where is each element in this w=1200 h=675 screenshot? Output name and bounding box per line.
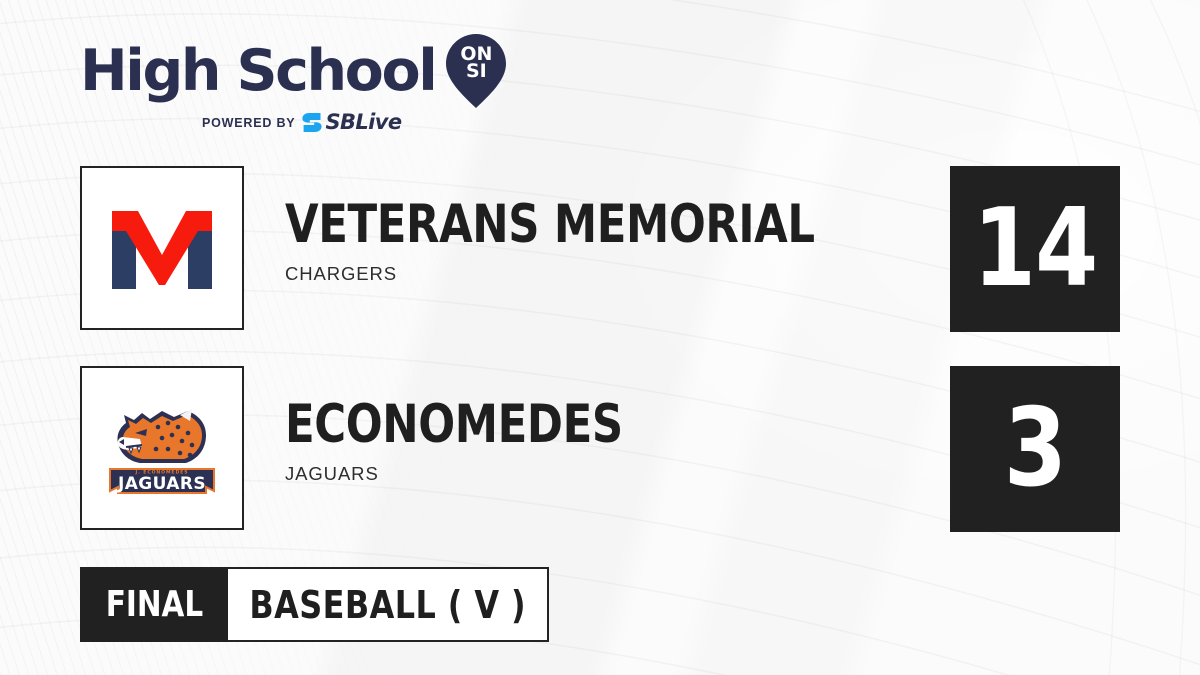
sblive-bolt-icon xyxy=(302,113,322,132)
status-sport-label: BASEBALL ( V ) xyxy=(249,583,526,627)
team-row-away: J. ECONOMEDES JAGUARS ECONOMEDES JAGUARS… xyxy=(80,366,1120,534)
status-state-block: FINAL xyxy=(80,567,228,642)
sblive-word-upper: SBL xyxy=(325,110,368,134)
team-mascot-home: CHARGERS xyxy=(285,263,931,285)
team-row-home: VETERANS MEMORIAL CHARGERS 14 xyxy=(80,166,1120,334)
score-value-away: 3 xyxy=(1004,395,1066,503)
scoreboard-graphic: High School ON SI POWERED BY SBLive xyxy=(0,0,1200,675)
block-letter-m-logo-icon xyxy=(102,188,222,308)
brand-header: High School ON SI POWERED BY SBLive xyxy=(80,34,507,133)
team-logo-box-away: J. ECONOMEDES JAGUARS xyxy=(80,366,244,530)
jaguar-head-logo-icon: J. ECONOMEDES JAGUARS xyxy=(102,388,222,508)
on-si-pin-text: ON SI xyxy=(445,46,507,80)
score-value-home: 14 xyxy=(973,195,1098,303)
powered-by-label: POWERED BY xyxy=(202,116,295,130)
status-sport-block: BASEBALL ( V ) xyxy=(228,567,549,642)
team-text-away: ECONOMEDES JAGUARS xyxy=(285,400,697,485)
team-logo-box-home xyxy=(80,166,244,330)
sblive-word-lower: ive xyxy=(368,110,401,134)
pin-text-si: SI xyxy=(445,63,507,80)
svg-text:JAGUARS: JAGUARS xyxy=(117,474,206,494)
powered-by-row: POWERED BY SBLive xyxy=(202,112,507,133)
brand-wordmark: High School xyxy=(80,43,435,100)
score-box-home: 14 xyxy=(950,166,1120,332)
brand-logo-row: High School ON SI xyxy=(80,34,507,108)
status-state-label: FINAL xyxy=(105,584,203,625)
sblive-wordmark: SBLive xyxy=(325,112,401,133)
on-si-pin-icon: ON SI xyxy=(445,34,507,108)
team-mascot-away: JAGUARS xyxy=(285,463,697,485)
game-status-bar: FINAL BASEBALL ( V ) xyxy=(80,567,549,642)
sblive-logo: SBLive xyxy=(302,112,401,133)
score-box-away: 3 xyxy=(950,366,1120,532)
team-name-away: ECONOMEDES xyxy=(285,400,623,451)
team-text-home: VETERANS MEMORIAL CHARGERS xyxy=(285,200,931,285)
team-name-home: VETERANS MEMORIAL xyxy=(285,200,815,251)
